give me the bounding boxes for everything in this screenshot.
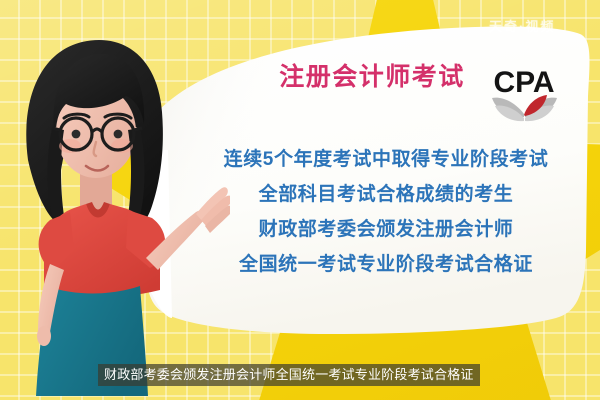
caption-bar: 财政部考委会颁发注册会计师全国统一考试专业阶段考试合格证 <box>98 364 480 386</box>
presenter-illustration <box>0 0 230 400</box>
cpa-logo-text: CPA <box>493 66 554 99</box>
board-title: 注册会计师考试 <box>262 62 482 92</box>
board-body-line-4: 全国统一考试专业阶段考试合格证 <box>212 247 560 282</box>
screenshot-canvas: 注册会计师考试 连续5个年度考试中取得专业阶段考试 全部科目考试合格成绩的考生 … <box>0 0 600 400</box>
board-body: 连续5个年度考试中取得专业阶段考试 全部科目考试合格成绩的考生 财政部考委会颁发… <box>212 142 560 282</box>
cpa-logo: CPA <box>487 58 562 126</box>
watermark: 天奇·视频 <box>489 16 555 35</box>
board-body-line-3: 财政部考委会颁发注册会计师 <box>212 212 560 247</box>
board-body-line-1: 连续5个年度考试中取得专业阶段考试 <box>212 142 560 177</box>
board-body-line-2: 全部科目考试合格成绩的考生 <box>212 177 560 212</box>
